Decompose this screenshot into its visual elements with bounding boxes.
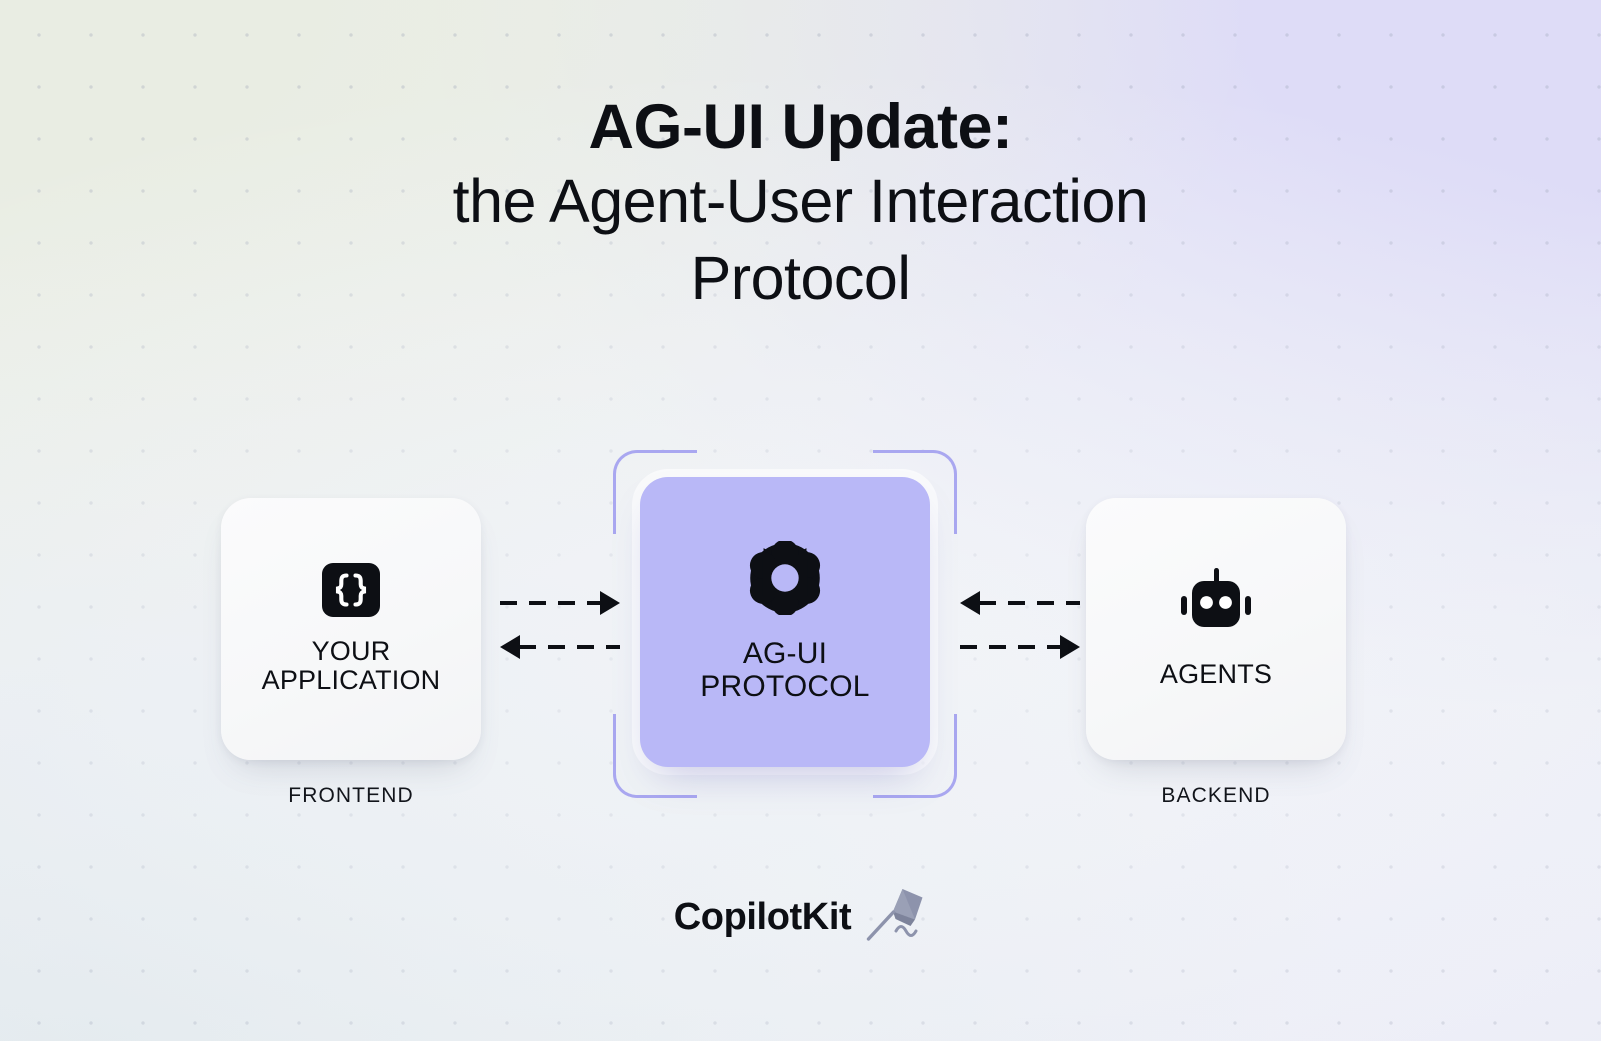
brand-logo: CopilotKit	[0, 886, 1601, 949]
arrowhead-right-icon	[1060, 635, 1080, 659]
ag-ui-protocol-label: AG-UI PROTOCOL	[700, 637, 869, 703]
arrowhead-right-icon	[600, 591, 620, 615]
agents-label: AGENTS	[1160, 660, 1272, 689]
connector-frontend-to-protocol	[500, 592, 620, 614]
page-title: AG-UI Update: the Agent-User Interaction…	[0, 92, 1601, 317]
protocol-backend-connectors	[960, 592, 1080, 658]
title-line-2: the Agent-User Interaction	[0, 163, 1601, 240]
your-application-label-line-1: YOUR	[262, 637, 441, 666]
robot-icon	[1178, 568, 1254, 638]
backend-node: AGENTS BACKEND	[1086, 498, 1346, 760]
dashed-line	[979, 601, 1080, 605]
brand-name: CopilotKit	[674, 896, 852, 939]
frontend-protocol-connectors	[500, 592, 620, 658]
connector-protocol-to-frontend	[500, 636, 620, 658]
your-application-label-line-2: APPLICATION	[262, 666, 441, 695]
ag-ui-protocol-label-line-1: AG-UI	[700, 637, 869, 670]
arrowhead-left-icon	[960, 591, 980, 615]
protocol-node: AG-UI PROTOCOL	[640, 477, 930, 767]
your-application-card[interactable]: YOUR APPLICATION	[221, 498, 481, 760]
gear-icon	[748, 541, 822, 615]
dashed-line	[960, 645, 1061, 649]
kite-icon	[865, 886, 927, 949]
your-application-label: YOUR APPLICATION	[262, 637, 441, 695]
ag-ui-protocol-label-line-2: PROTOCOL	[700, 670, 869, 703]
connector-protocol-to-backend	[960, 636, 1080, 658]
frontend-tier-label: FRONTEND	[221, 784, 481, 808]
dashed-line	[519, 645, 620, 649]
backend-tier-label: BACKEND	[1086, 784, 1346, 808]
architecture-diagram: YOUR APPLICATION FRONTEND	[0, 435, 1601, 805]
connector-backend-to-protocol	[960, 592, 1080, 614]
curly-braces-icon	[322, 563, 380, 617]
frontend-node: YOUR APPLICATION FRONTEND	[221, 498, 481, 760]
agents-card[interactable]: AGENTS	[1086, 498, 1346, 760]
ag-ui-protocol-card[interactable]: AG-UI PROTOCOL	[640, 477, 930, 767]
arrowhead-left-icon	[500, 635, 520, 659]
title-line-1: AG-UI Update:	[0, 92, 1601, 163]
dashed-line	[500, 601, 601, 605]
title-line-3: Protocol	[0, 240, 1601, 317]
